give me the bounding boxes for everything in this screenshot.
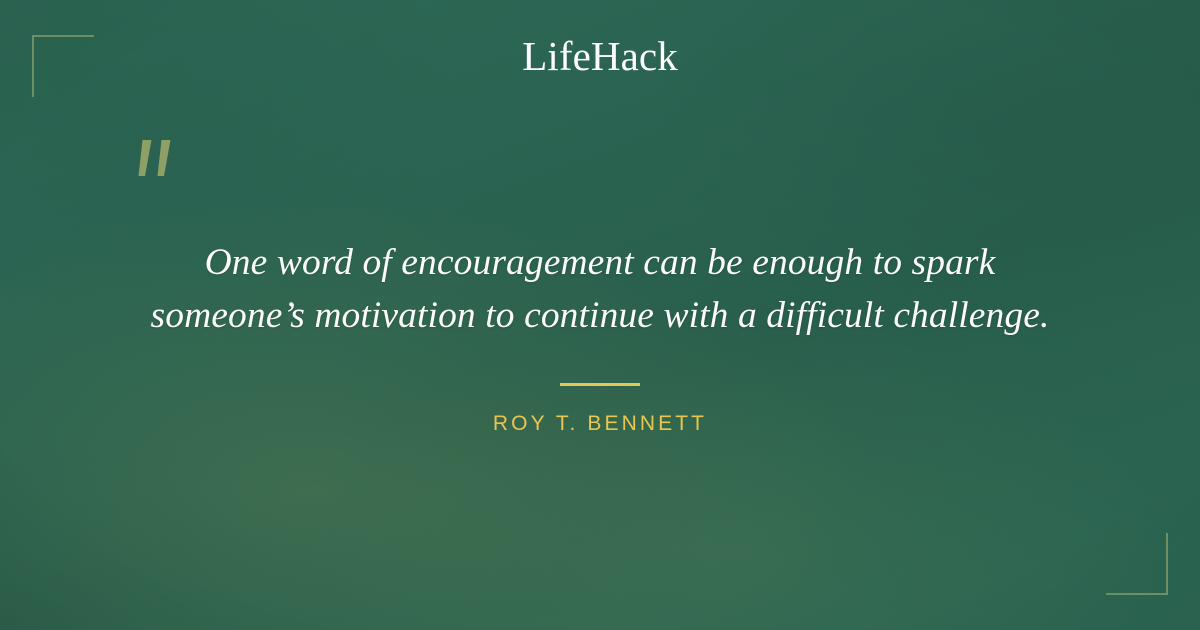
corner-bracket-bottom-right-icon bbox=[1106, 533, 1168, 595]
quote-line-2: someone’s motivation to continue with a … bbox=[60, 289, 1140, 342]
quote-card: LifeHack One word of encouragement can b… bbox=[0, 0, 1200, 630]
quote-line-1: One word of encouragement can be enough … bbox=[60, 236, 1140, 289]
brand-logo: LifeHack bbox=[0, 36, 1200, 77]
author-name: ROY T. BENNETT bbox=[0, 412, 1200, 436]
author-divider bbox=[560, 383, 640, 386]
quotation-mark-icon bbox=[128, 138, 184, 198]
quote-block: One word of encouragement can be enough … bbox=[0, 236, 1200, 342]
